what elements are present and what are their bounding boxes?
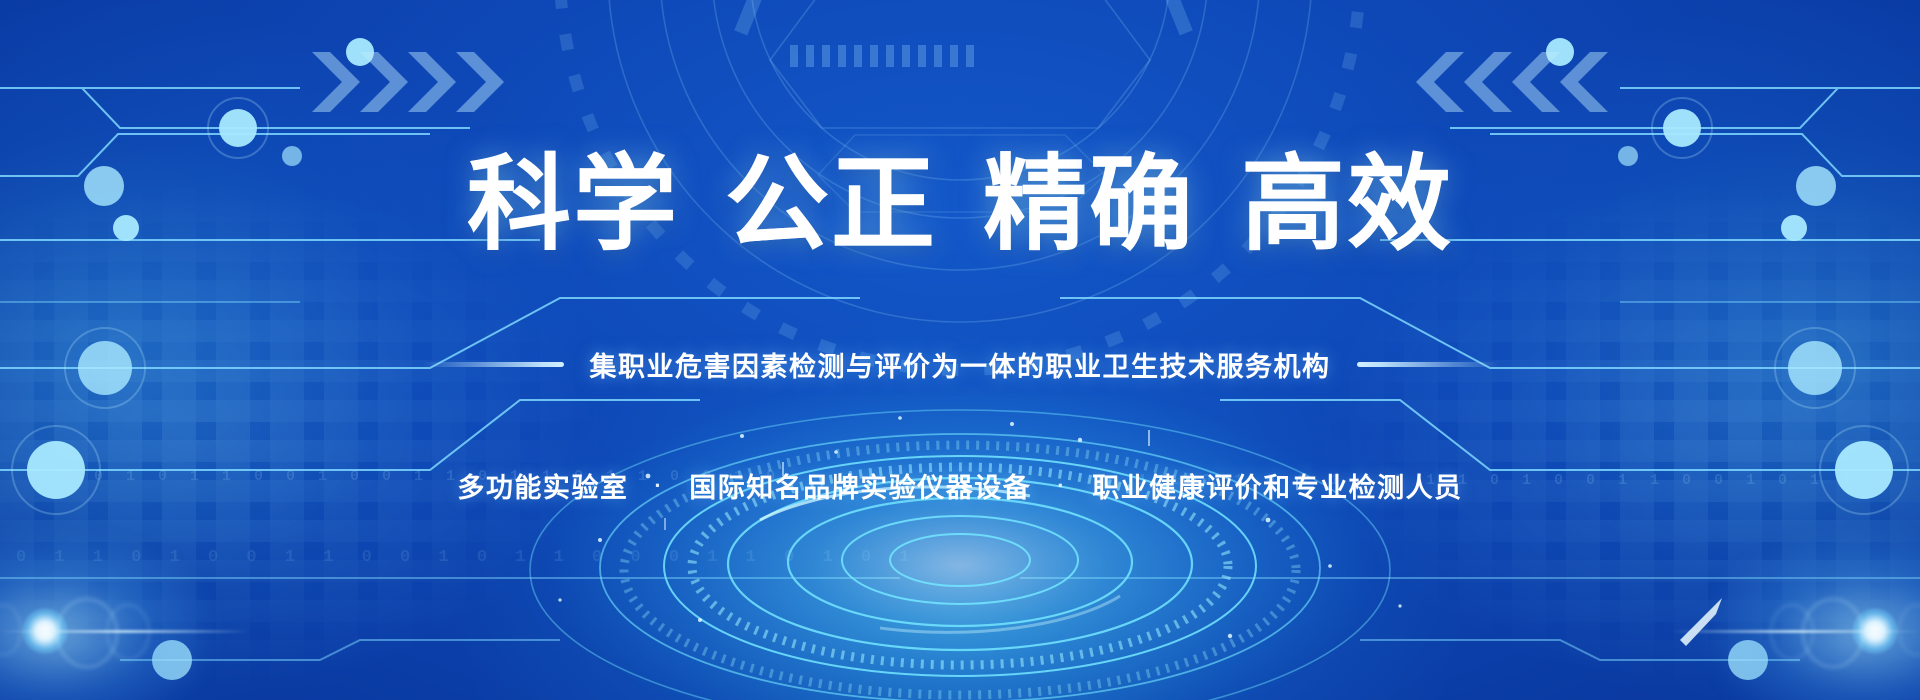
subtitle-text: 集职业危害因素检测与评价为一体的职业卫生技术服务机构 (590, 345, 1331, 384)
headline-char-1: 科 (467, 147, 573, 263)
headline-char-4: 正 (831, 147, 937, 263)
page-title: 科学公正精确高效 (0, 147, 1920, 263)
feature-item-3: 职业健康评价和专业检测人员 (1092, 466, 1463, 505)
headline-char-8: 效 (1347, 147, 1453, 263)
dash-right-decoration (1357, 362, 1499, 367)
feature-item-1: 多功能实验室 (457, 466, 628, 505)
headline-char-5: 精 (983, 147, 1089, 263)
headline-char-6: 确 (1089, 147, 1195, 263)
headline-char-2: 学 (573, 147, 679, 263)
dash-left-decoration (422, 362, 564, 367)
feature-item-2: 国际知名品牌实验仪器设备 (689, 466, 1031, 505)
feature-separator-1: · (654, 473, 663, 499)
headline-char-3: 公 (725, 147, 831, 263)
subtitle-row: 集职业危害因素检测与评价为一体的职业卫生技术服务机构 (0, 345, 1920, 384)
hero-banner: 1 0 0 1 0 1 1 0 0 1 0 0 1 1 0 1 1 0 1 1 … (0, 0, 1920, 700)
headline-char-7: 高 (1241, 147, 1347, 263)
feature-list: 多功能实验室 · 国际知名品牌实验仪器设备 · 职业健康评价和专业检测人员 (0, 466, 1920, 505)
feature-separator-2: · (1057, 473, 1066, 499)
